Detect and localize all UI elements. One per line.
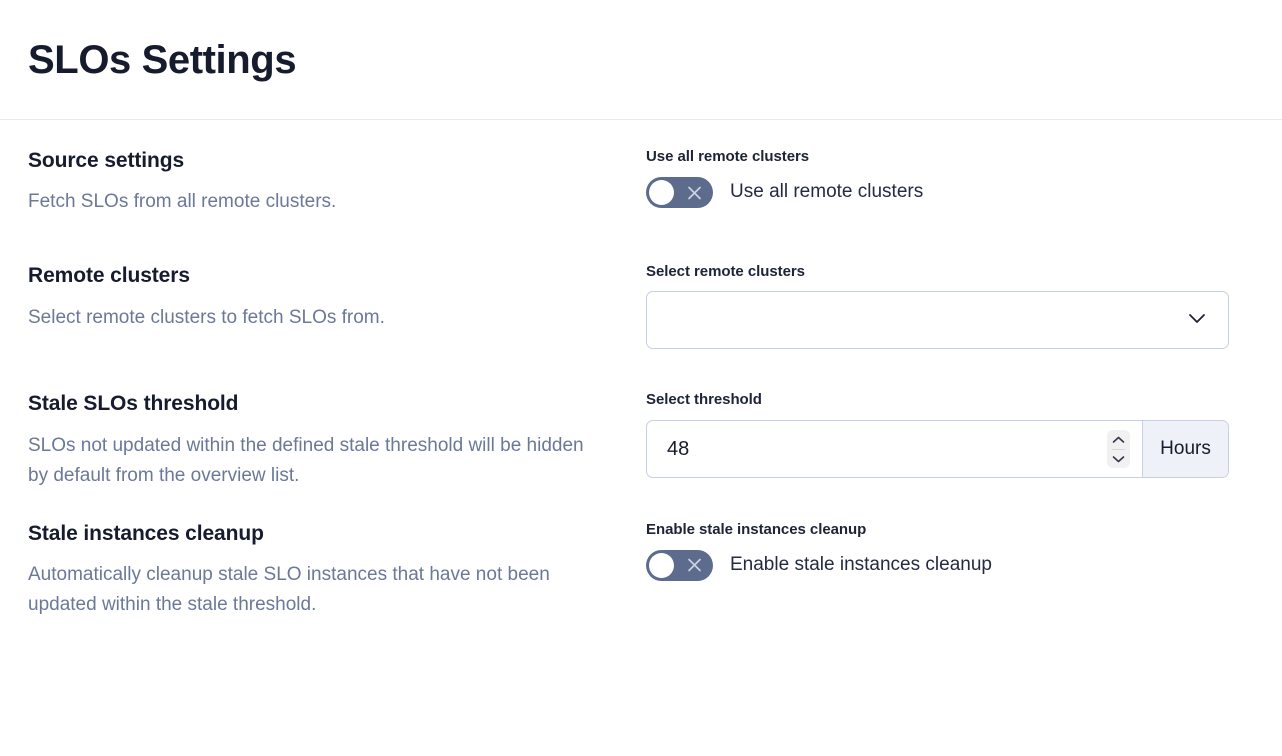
select-remote-clusters[interactable]: [646, 291, 1229, 349]
field-label-enable-stale-instances-cleanup: Enable stale instances cleanup: [646, 521, 1254, 539]
toggle-enable-stale-instances-cleanup[interactable]: [646, 550, 713, 581]
setting-description-source-settings: Source settings Fetch SLOs from all remo…: [28, 148, 646, 217]
setting-row-remote-clusters: Remote clusters Select remote clusters t…: [28, 263, 1254, 349]
toggle-use-all-remote-clusters[interactable]: [646, 177, 713, 208]
setting-control-remote-clusters: Select remote clusters: [646, 263, 1254, 349]
close-x-icon: [687, 185, 702, 200]
section-heading: Stale SLOs threshold: [28, 391, 616, 417]
toggle-row-use-all-remote-clusters: Use all remote clusters: [646, 177, 1254, 208]
slos-settings-page: SLOs Settings Source settings Fetch SLOs…: [0, 0, 1282, 756]
section-heading: Source settings: [28, 148, 616, 174]
settings-body: Source settings Fetch SLOs from all remo…: [0, 120, 1282, 620]
setting-control-source-settings: Use all remote clusters Use all remote c…: [646, 148, 1254, 208]
row-spacer: [28, 217, 1254, 263]
setting-control-stale-slos-threshold: Select threshold 48: [646, 391, 1254, 478]
section-description: SLOs not updated within the defined stal…: [28, 431, 608, 491]
threshold-value: 48: [667, 437, 1107, 461]
threshold-number-input[interactable]: 48: [647, 421, 1142, 477]
toggle-label-use-all-remote-clusters[interactable]: Use all remote clusters: [730, 181, 923, 204]
section-description: Select remote clusters to fetch SLOs fro…: [28, 303, 608, 333]
number-spinner[interactable]: [1107, 430, 1130, 468]
setting-row-stale-instances-cleanup: Stale instances cleanup Automatically cl…: [28, 521, 1254, 620]
threshold-unit-addon: Hours: [1142, 421, 1228, 477]
close-x-icon: [687, 558, 702, 573]
section-heading: Stale instances cleanup: [28, 521, 616, 547]
setting-control-stale-instances-cleanup: Enable stale instances cleanup Enable st…: [646, 521, 1254, 581]
toggle-label-enable-stale-instances-cleanup[interactable]: Enable stale instances cleanup: [730, 554, 992, 577]
row-spacer: [28, 349, 1254, 391]
section-heading: Remote clusters: [28, 263, 616, 289]
toggle-row-enable-stale-instances-cleanup: Enable stale instances cleanup: [646, 550, 1254, 581]
field-label-select-threshold: Select threshold: [646, 391, 1254, 409]
chevron-down-icon[interactable]: [1184, 305, 1210, 336]
field-label-select-remote-clusters: Select remote clusters: [646, 263, 1254, 281]
section-description: Automatically cleanup stale SLO instance…: [28, 560, 608, 620]
page-header: SLOs Settings: [0, 0, 1282, 120]
toggle-knob: [649, 553, 674, 578]
setting-row-source-settings: Source settings Fetch SLOs from all remo…: [28, 148, 1254, 217]
chevron-down-icon[interactable]: [1107, 450, 1130, 468]
section-description: Fetch SLOs from all remote clusters.: [28, 187, 608, 217]
setting-description-remote-clusters: Remote clusters Select remote clusters t…: [28, 263, 646, 332]
row-spacer: [28, 491, 1254, 521]
setting-row-stale-slos-threshold: Stale SLOs threshold SLOs not updated wi…: [28, 391, 1254, 490]
field-label-use-all-remote-clusters: Use all remote clusters: [646, 148, 1254, 166]
page-title: SLOs Settings: [28, 38, 296, 82]
chevron-up-icon[interactable]: [1107, 431, 1130, 449]
setting-description-stale-slos-threshold: Stale SLOs threshold SLOs not updated wi…: [28, 391, 646, 490]
setting-description-stale-instances-cleanup: Stale instances cleanup Automatically cl…: [28, 521, 646, 620]
threshold-number-group: 48: [646, 420, 1229, 478]
toggle-knob: [649, 180, 674, 205]
